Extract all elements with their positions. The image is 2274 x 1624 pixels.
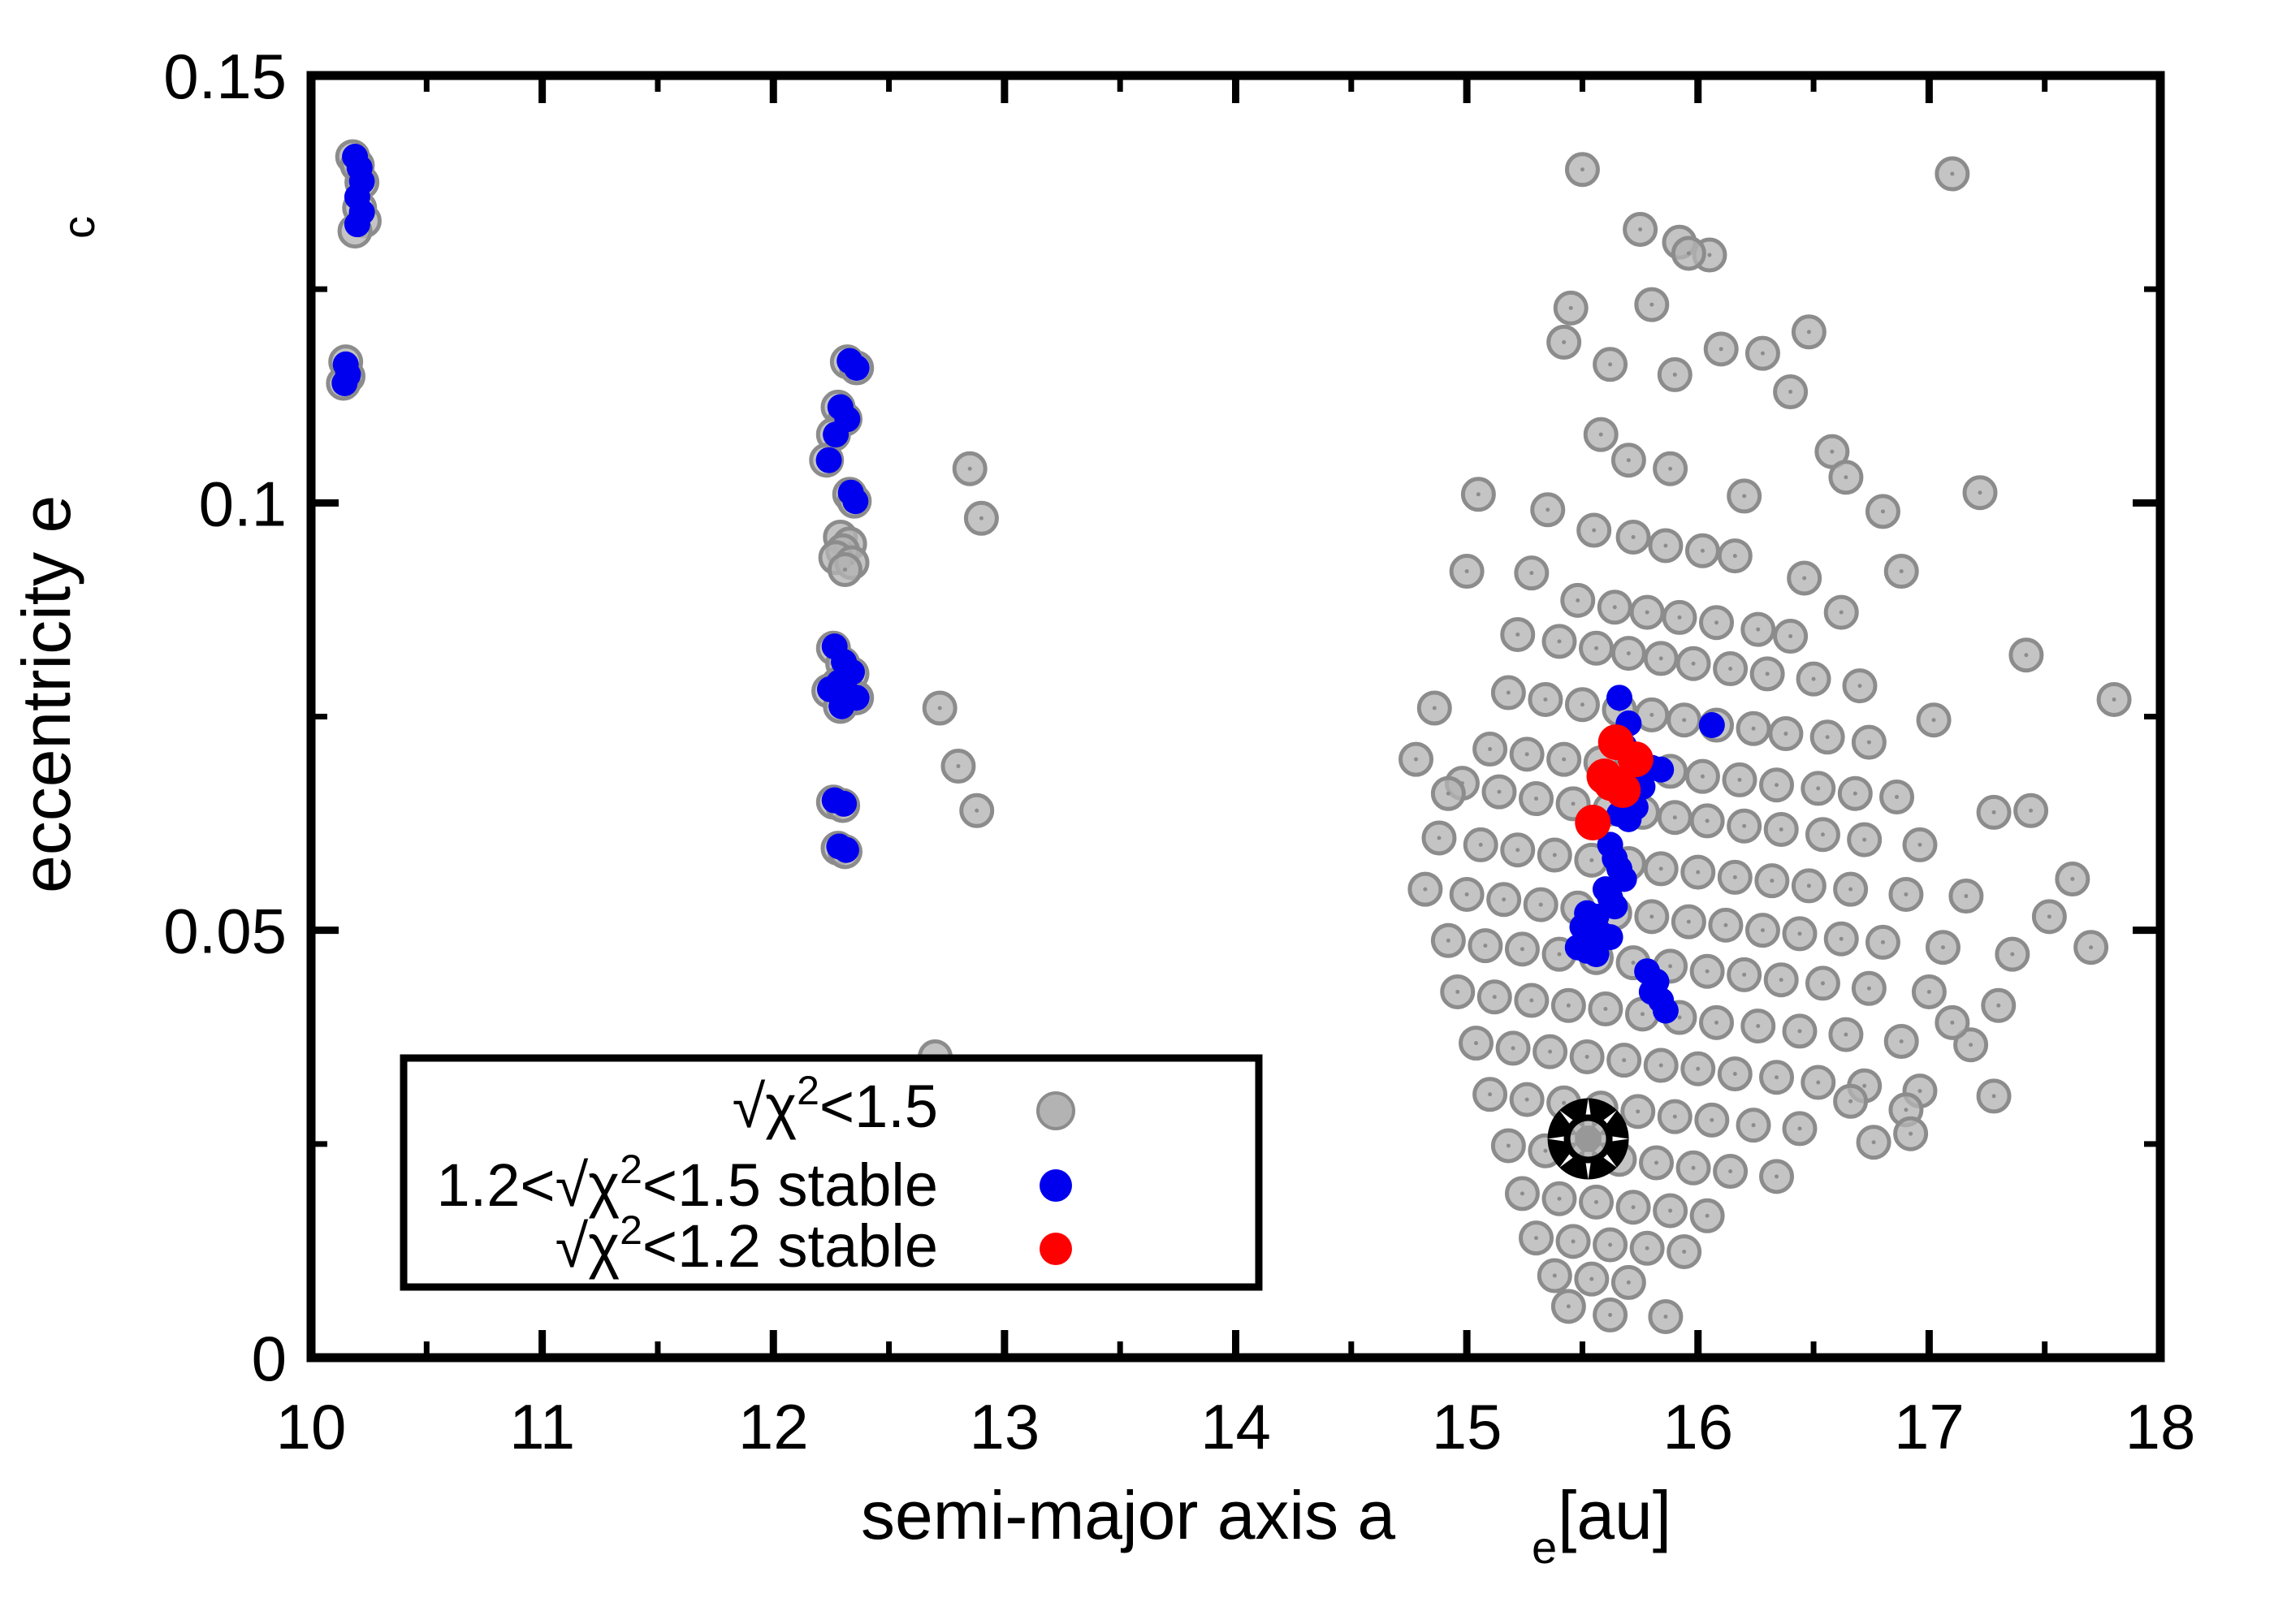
data-point-center-dot	[1844, 475, 1848, 479]
data-point-center-dot	[1830, 450, 1834, 454]
data-point-center-dot	[1659, 656, 1663, 660]
data-point-center-dot	[1455, 990, 1459, 994]
data-point-center-dot	[1788, 634, 1792, 638]
data-point-center-dot	[1483, 944, 1487, 948]
data-point-center-dot	[1663, 1315, 1667, 1319]
data-point-center-dot	[2029, 809, 2033, 813]
data-point-center-dot	[1571, 1239, 1576, 1243]
legend-blue-radical: √	[556, 1151, 589, 1219]
data-point-center-dot	[1677, 1016, 1681, 1020]
data-point-center-dot	[1950, 1021, 1954, 1025]
x-axis-title-unit: [au]	[1558, 1477, 1671, 1553]
data-point-center-dot	[1525, 1098, 1529, 1102]
data-point-center-dot	[1867, 987, 1871, 991]
data-point-center-dot	[1627, 458, 1631, 462]
data-point-center-dot	[1608, 1243, 1612, 1247]
data-point-center-dot	[1571, 801, 1576, 806]
legend-red-suffix: <1.2 stable	[642, 1212, 938, 1280]
data-point-center-dot	[1636, 1109, 1640, 1113]
data-point-center-dot	[1608, 1313, 1612, 1317]
data-point-center-dot	[1649, 303, 1654, 307]
data-point-center-dot	[968, 467, 972, 471]
data-point-center-dot	[1645, 611, 1649, 615]
data-point-center-dot	[1465, 892, 1469, 896]
data-point-center-dot	[1881, 940, 1885, 944]
data-point-center-dot	[1557, 952, 1561, 957]
data-point-center-dot	[1474, 1041, 1478, 1045]
legend-gray-radical: √	[733, 1073, 766, 1140]
data-point-center-dot	[1622, 1058, 1626, 1062]
data-point-center-dot	[1476, 492, 1481, 496]
data-point-center-dot	[1423, 888, 1427, 892]
data-point-center-dot	[1821, 832, 1825, 836]
x-tick-label: 11	[509, 1391, 575, 1462]
x-tick-label: 10	[276, 1391, 347, 1462]
legend-red-chi: χ	[588, 1212, 620, 1280]
data-point-center-dot	[1742, 824, 1746, 828]
data-point-center-dot	[1707, 253, 1711, 257]
data-point-center-dot	[1548, 1050, 1552, 1054]
x-axis-tick-labels: 101112131415161718	[276, 1391, 2196, 1462]
legend-swatch-red	[1040, 1233, 1072, 1265]
data-point-red	[1575, 805, 1610, 840]
data-point-center-dot	[1437, 836, 1441, 840]
data-point-center-dot	[1742, 973, 1746, 977]
data-point-blue	[331, 370, 357, 396]
data-point-center-dot	[1779, 978, 1783, 982]
data-point-center-dot	[1978, 490, 1982, 495]
data-point-center-dot	[1797, 1029, 1801, 1033]
data-point-center-dot	[1649, 914, 1654, 918]
data-point-center-dot	[1692, 662, 1696, 666]
chart-canvas: 101112131415161718 00.050.10.15 semi-maj…	[0, 0, 2274, 1624]
data-point-center-dot	[1497, 790, 1501, 794]
data-point-center-dot	[1816, 786, 1820, 790]
data-point-center-dot	[956, 764, 960, 768]
data-point-center-dot	[1529, 998, 1533, 1002]
data-point-center-dot	[1585, 1055, 1589, 1059]
data-point-center-dot	[1728, 667, 1732, 671]
data-point-center-dot	[1696, 870, 1700, 875]
data-point-center-dot	[1594, 1200, 1598, 1204]
data-point-center-dot	[1969, 1043, 1973, 1047]
data-point-center-dot	[1645, 1246, 1649, 1250]
data-point-center-dot	[1742, 494, 1746, 498]
legend-blue-chi: χ	[588, 1151, 620, 1219]
data-point-blue	[1615, 806, 1641, 832]
legend-red-radical: √	[556, 1212, 589, 1280]
data-point-center-dot	[1543, 698, 1547, 702]
data-point-center-dot	[1812, 677, 1816, 681]
data-point-center-dot	[1862, 838, 1866, 842]
data-point-center-dot	[1465, 569, 1469, 573]
data-point-center-dot	[1546, 508, 1550, 512]
data-point-center-dot	[1783, 732, 1788, 736]
data-point-center-dot	[1705, 818, 1710, 823]
data-point-center-dot	[975, 809, 979, 813]
legend-label-gray-group: √χ2<1.5	[733, 1068, 938, 1140]
legend[interactable]: √χ2<1.5 1.2<√χ2<1.5 stable √χ2<1.2 stabl…	[404, 1058, 1259, 1287]
data-point-center-dot	[1733, 875, 1737, 879]
data-point-center-dot	[1613, 605, 1617, 609]
data-point-center-dot	[1881, 509, 1885, 513]
data-point-center-dot	[1673, 815, 1677, 819]
data-point-center-dot	[1608, 362, 1612, 366]
legend-red-sup: 2	[620, 1207, 642, 1253]
data-point-center-dot	[1673, 373, 1677, 377]
data-point-center-dot	[1917, 843, 1922, 847]
data-point-center-dot	[1627, 1281, 1631, 1285]
y-tick-label: 0	[252, 1323, 287, 1394]
data-point-center-dot	[1525, 752, 1529, 756]
x-tick-label: 15	[1432, 1391, 1502, 1462]
data-point-blue	[842, 488, 868, 514]
data-point-center-dot	[1603, 1007, 1607, 1011]
x-tick-label: 14	[1200, 1391, 1271, 1462]
data-point-center-dot	[1446, 939, 1450, 943]
data-point-center-dot	[1534, 1236, 1538, 1240]
data-point-center-dot	[1557, 1197, 1561, 1201]
data-point-center-dot	[1632, 961, 1636, 965]
x-axis-title-subscript: e	[1532, 1522, 1557, 1573]
data-point-center-dot	[1488, 1092, 1492, 1096]
data-point-center-dot	[1701, 549, 1705, 553]
data-point-center-dot	[1733, 1072, 1737, 1076]
data-point-center-dot	[1632, 1205, 1636, 1209]
data-point-center-dot	[1638, 227, 1642, 231]
data-point-center-dot	[1553, 853, 1557, 857]
data-point-center-dot	[1488, 747, 1492, 751]
legend-blue-sup: 2	[620, 1147, 642, 1192]
data-point-center-dot	[1941, 945, 1945, 949]
data-point-center-dot	[1797, 931, 1801, 935]
data-point-center-dot	[1529, 571, 1533, 575]
data-point-center-dot	[1562, 758, 1566, 762]
data-point-center-dot	[1659, 1063, 1663, 1067]
data-point-center-dot	[1701, 775, 1705, 779]
data-point-center-dot	[1917, 1089, 1922, 1093]
data-point-center-dot	[1562, 340, 1566, 344]
data-point-center-dot	[1589, 858, 1593, 862]
data-point-center-dot	[1668, 467, 1672, 471]
x-axis-title-main: semi-major axis a	[861, 1477, 1395, 1553]
data-point-center-dot	[2089, 945, 2093, 949]
legend-gray-suffix: <1.5	[819, 1073, 938, 1140]
data-point-center-dot	[1502, 897, 1506, 901]
legend-swatch-gray	[1038, 1093, 1074, 1129]
x-tick-label: 16	[1662, 1391, 1733, 1462]
y-tick-label: 0.1	[199, 468, 287, 539]
legend-swatch-blue	[1040, 1169, 1072, 1202]
data-point-blue	[1699, 712, 1725, 738]
data-point-center-dot	[1705, 970, 1710, 974]
data-point-center-dot	[1950, 172, 1954, 176]
data-point-center-dot	[1520, 947, 1524, 951]
data-point-center-dot	[1775, 1075, 1779, 1079]
data-point-center-dot	[979, 516, 984, 520]
y-axis-title-main: eccentricity e	[8, 495, 84, 893]
data-point-center-dot	[1520, 1191, 1524, 1195]
data-point-center-dot	[1668, 1208, 1672, 1212]
data-point-center-dot	[1641, 1012, 1645, 1016]
data-point-center-dot	[1567, 1304, 1571, 1308]
data-point-blue	[844, 355, 870, 381]
data-point-blue	[1606, 685, 1632, 710]
data-point-center-dot	[1821, 981, 1825, 985]
x-tick-label: 12	[738, 1391, 809, 1462]
data-point-blue	[831, 791, 857, 817]
data-point-blue	[1584, 941, 1610, 967]
data-point-center-dot	[1654, 1160, 1658, 1164]
data-point-center-dot	[1710, 1118, 1714, 1122]
data-point-center-dot	[1756, 628, 1760, 632]
data-point-center-dot	[1687, 251, 1691, 255]
data-point-center-dot	[1543, 1149, 1547, 1153]
data-point-center-dot	[1714, 1021, 1718, 1025]
data-point-center-dot	[1507, 1143, 1511, 1147]
data-point-center-dot	[1788, 390, 1792, 394]
data-point-center-dot	[1659, 866, 1663, 870]
data-point-center-dot	[1816, 1081, 1820, 1085]
legend-label-red-group: √χ2<1.2 stable	[556, 1207, 938, 1280]
data-point-center-dot	[1567, 1004, 1571, 1008]
data-point-center-dot	[1992, 810, 1996, 814]
data-point-center-dot	[1594, 646, 1598, 650]
data-point-center-dot	[1862, 1084, 1866, 1088]
data-point-center-dot	[1900, 1039, 1904, 1043]
data-point-center-dot	[1872, 1140, 1876, 1144]
data-point-center-dot	[1909, 1132, 1913, 1136]
data-point-center-dot	[1775, 1174, 1779, 1178]
data-point-center-dot	[1515, 633, 1520, 637]
y-tick-label: 0.15	[163, 41, 287, 112]
data-point-center-dot	[2112, 698, 2116, 702]
data-point-center-dot	[1433, 706, 1437, 710]
data-point-center-dot	[1557, 639, 1561, 643]
data-point-center-dot	[1562, 1101, 1566, 1105]
data-point-center-dot	[1677, 615, 1681, 620]
data-point-center-dot	[1627, 651, 1631, 655]
data-point-center-dot	[1857, 684, 1861, 688]
data-point-center-dot	[2070, 877, 2074, 881]
data-point-center-dot	[1844, 1033, 1848, 1037]
data-point-center-dot	[1580, 702, 1584, 706]
data-point-center-dot	[1414, 758, 1418, 762]
data-point-center-dot	[1692, 1166, 1696, 1170]
scatter-plot: 101112131415161718 00.050.10.15 semi-maj…	[0, 0, 2274, 1624]
data-point-blue	[828, 693, 854, 719]
data-point-center-dot	[1761, 928, 1765, 932]
legend-blue-prefix: 1.2<	[437, 1151, 556, 1219]
data-point-center-dot	[1840, 611, 1844, 615]
data-point-center-dot	[1733, 554, 1737, 558]
x-tick-label: 13	[969, 1391, 1040, 1462]
legend-label-blue-group: 1.2<√χ2<1.5 stable	[437, 1147, 939, 1219]
data-point-center-dot	[1770, 879, 1774, 883]
data-point-center-dot	[1446, 792, 1450, 796]
data-point-center-dot	[1599, 433, 1603, 437]
legend-blue-suffix: <1.5 stable	[642, 1151, 938, 1219]
data-point-center-dot	[1728, 1169, 1732, 1173]
data-point-center-dot	[1723, 923, 1727, 927]
data-point-center-dot	[1775, 783, 1779, 787]
data-point-center-dot	[1996, 1004, 2000, 1008]
data-point-center-dot	[1807, 330, 1811, 334]
data-point-center-dot	[1553, 1273, 1557, 1277]
data-point-center-dot	[1673, 1115, 1677, 1119]
data-point-center-dot	[1714, 620, 1718, 624]
data-point-center-dot	[1895, 795, 1899, 799]
data-point-center-dot	[1632, 535, 1636, 539]
y-tick-label: 0.05	[163, 896, 287, 967]
x-tick-label: 17	[1894, 1391, 1965, 1462]
legend-gray-chi: χ	[765, 1073, 797, 1140]
data-point-center-dot	[1932, 718, 1936, 722]
sun-inner-ring	[1567, 1118, 1610, 1160]
data-point-center-dot	[1687, 920, 1691, 924]
data-point-center-dot	[1737, 778, 1741, 782]
data-point-center-dot	[1826, 735, 1830, 739]
data-point-center-dot	[1779, 827, 1783, 831]
data-point-blue	[1653, 998, 1679, 1024]
data-point-center-dot	[1479, 843, 1483, 847]
data-point-center-dot	[1534, 797, 1538, 801]
data-point-center-dot	[1840, 937, 1844, 941]
data-point-center-dot	[1756, 1024, 1760, 1028]
data-point-center-dot	[1900, 569, 1904, 573]
y-axis-title-subscript: c	[53, 216, 104, 239]
data-point-center-dot	[1848, 888, 1852, 892]
data-point-center-dot	[1696, 1067, 1700, 1071]
data-point-center-dot	[1807, 883, 1811, 888]
data-point-center-dot	[843, 568, 847, 572]
x-tick-label: 18	[2125, 1391, 2196, 1462]
legend-gray-sup: 2	[797, 1068, 819, 1113]
data-point-center-dot	[1539, 903, 1543, 907]
sun-symbol-marker	[1548, 1099, 1629, 1180]
data-point-blue	[833, 837, 859, 863]
data-point-blue	[816, 447, 842, 473]
data-point-center-dot	[1493, 995, 1497, 999]
data-point-center-dot	[1797, 1126, 1801, 1130]
data-point-center-dot	[1853, 792, 1857, 796]
data-point-center-dot	[1766, 672, 1770, 676]
data-point-center-dot	[1569, 306, 1573, 310]
data-point-center-dot	[1761, 352, 1765, 356]
data-point-center-dot	[2047, 914, 2051, 918]
data-point-center-dot	[1719, 347, 1723, 351]
data-point-center-dot	[1904, 1108, 1908, 1112]
data-point-center-dot	[1802, 576, 1806, 580]
data-point-center-dot	[1705, 1214, 1710, 1218]
data-point-center-dot	[1927, 990, 1931, 994]
data-point-center-dot	[1576, 598, 1580, 603]
data-point-center-dot	[1752, 727, 1756, 731]
data-point-red	[1605, 772, 1641, 808]
data-point-center-dot	[1848, 1099, 1852, 1104]
plot-background	[0, 0, 2274, 1624]
data-point-center-dot	[1682, 1250, 1686, 1254]
data-point-center-dot	[1663, 543, 1667, 547]
data-point-center-dot	[2024, 653, 2028, 657]
data-point-center-dot	[1668, 964, 1672, 968]
data-point-center-dot	[1515, 848, 1520, 852]
data-point-center-dot	[1867, 741, 1871, 745]
data-point-center-dot	[1507, 691, 1511, 695]
data-point-center-dot	[1580, 167, 1584, 171]
data-point-center-dot	[1511, 1046, 1515, 1050]
data-point-center-dot	[1904, 892, 1908, 896]
data-point-center-dot	[1964, 894, 1968, 898]
data-point-blue	[823, 421, 849, 447]
data-point-center-dot	[1992, 1094, 1996, 1098]
data-point-center-dot	[1592, 529, 1596, 533]
data-point-center-dot	[1682, 718, 1686, 722]
data-point-center-dot	[1589, 1277, 1593, 1281]
data-point-center-dot	[2010, 952, 2014, 957]
data-point-blue	[344, 211, 370, 237]
data-point-center-dot	[1752, 1123, 1756, 1127]
data-point-center-dot	[1649, 713, 1654, 717]
data-point-center-dot	[938, 706, 942, 710]
